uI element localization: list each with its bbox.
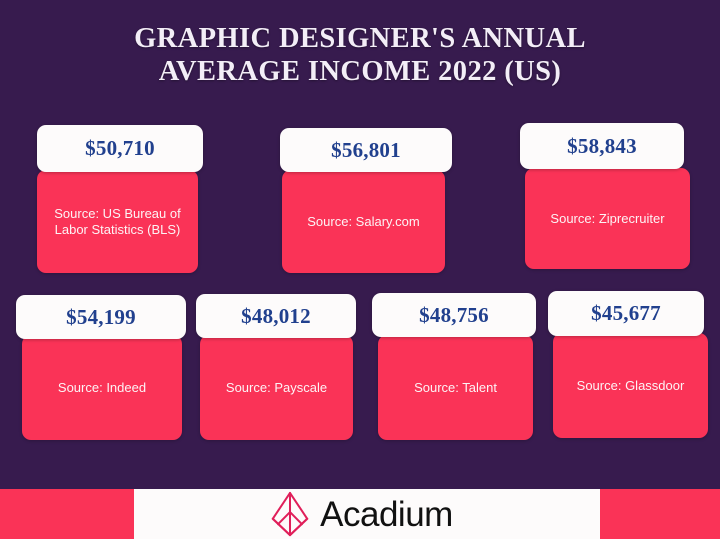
stat-card-value: $45,677 xyxy=(548,291,704,336)
footer-bar: Acadium xyxy=(0,489,720,539)
stat-card-value: $54,199 xyxy=(16,295,186,339)
stat-card-value: $56,801 xyxy=(280,128,452,172)
stat-card-source: Source: Glassdoor xyxy=(569,378,693,394)
brand-lockup: Acadium xyxy=(269,491,453,537)
stat-card-source: Source: Talent xyxy=(406,380,505,396)
title-line-2: AVERAGE INCOME 2022 (US) xyxy=(0,55,720,88)
stat-card-value-text: $48,012 xyxy=(241,304,311,329)
stat-card-value: $48,012 xyxy=(196,294,356,338)
stat-card-body: Source: Glassdoor xyxy=(553,333,708,438)
footer-brand-panel: Acadium xyxy=(134,489,600,539)
stat-card-source: Source: US Bureau of Labor Statistics (B… xyxy=(37,206,198,238)
stat-card-value: $50,710 xyxy=(37,125,203,172)
stat-card-value-text: $58,843 xyxy=(567,134,637,159)
stat-card-value: $58,843 xyxy=(520,123,684,169)
stat-card-value-text: $56,801 xyxy=(331,138,401,163)
stat-card-value: $48,756 xyxy=(372,293,536,337)
stat-card-value-text: $50,710 xyxy=(85,136,155,161)
page-title: GRAPHIC DESIGNER'S ANNUAL AVERAGE INCOME… xyxy=(0,22,720,88)
infographic-canvas: GRAPHIC DESIGNER'S ANNUAL AVERAGE INCOME… xyxy=(0,0,720,539)
stat-card-body: Source: Salary.com xyxy=(282,170,445,273)
stat-card-source: Source: Salary.com xyxy=(299,214,427,230)
stat-card-value-text: $45,677 xyxy=(591,301,661,326)
stat-card-source: Source: Payscale xyxy=(218,380,335,396)
stat-card-body: Source: US Bureau of Labor Statistics (B… xyxy=(37,170,198,273)
stat-card-value-text: $54,199 xyxy=(66,305,136,330)
brand-name: Acadium xyxy=(320,497,453,532)
acadium-diamond-logo-icon xyxy=(269,491,311,537)
stat-card-source: Source: Ziprecruiter xyxy=(542,211,672,227)
stat-card-body: Source: Talent xyxy=(378,335,533,440)
stat-card-value-text: $48,756 xyxy=(419,303,489,328)
stat-card-source: Source: Indeed xyxy=(50,380,154,396)
stat-card-body: Source: Indeed xyxy=(22,335,182,440)
stat-card-body: Source: Payscale xyxy=(200,335,353,440)
title-line-1: GRAPHIC DESIGNER'S ANNUAL xyxy=(0,22,720,55)
stat-card-body: Source: Ziprecruiter xyxy=(525,168,690,269)
